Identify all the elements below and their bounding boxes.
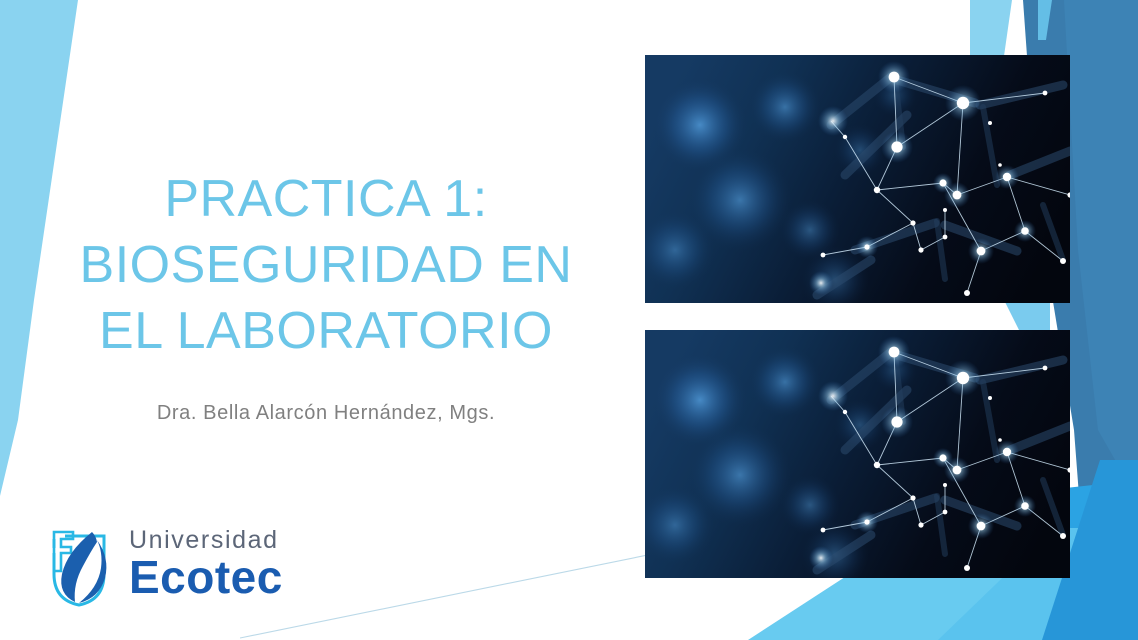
author-subtitle: Dra. Bella Alarcón Hernández, Mgs. — [46, 402, 606, 425]
title-line-1: PRACTICA 1: — [46, 166, 606, 232]
logo-ecotec-text: Ecotec — [129, 552, 283, 602]
network-nodes-photo-top — [645, 55, 1070, 303]
top-right-sliver-decoration — [1038, 0, 1078, 40]
title-line-2: BIOSEGURIDAD EN — [46, 232, 606, 298]
ecotec-shield-leaf-icon — [45, 526, 123, 610]
title-line-3: EL LABORATORIO — [46, 298, 606, 364]
university-logo: Universidad Ecotec — [45, 522, 310, 614]
network-nodes-photo-bottom — [645, 330, 1070, 578]
page-title: PRACTICA 1: BIOSEGURIDAD EN EL LABORATOR… — [46, 166, 606, 364]
logo-universidad-text: Universidad — [129, 526, 283, 554]
presentation-slide: PRACTICA 1: BIOSEGURIDAD EN EL LABORATOR… — [0, 0, 1138, 640]
logo-wordmark: Universidad Ecotec — [129, 526, 283, 602]
